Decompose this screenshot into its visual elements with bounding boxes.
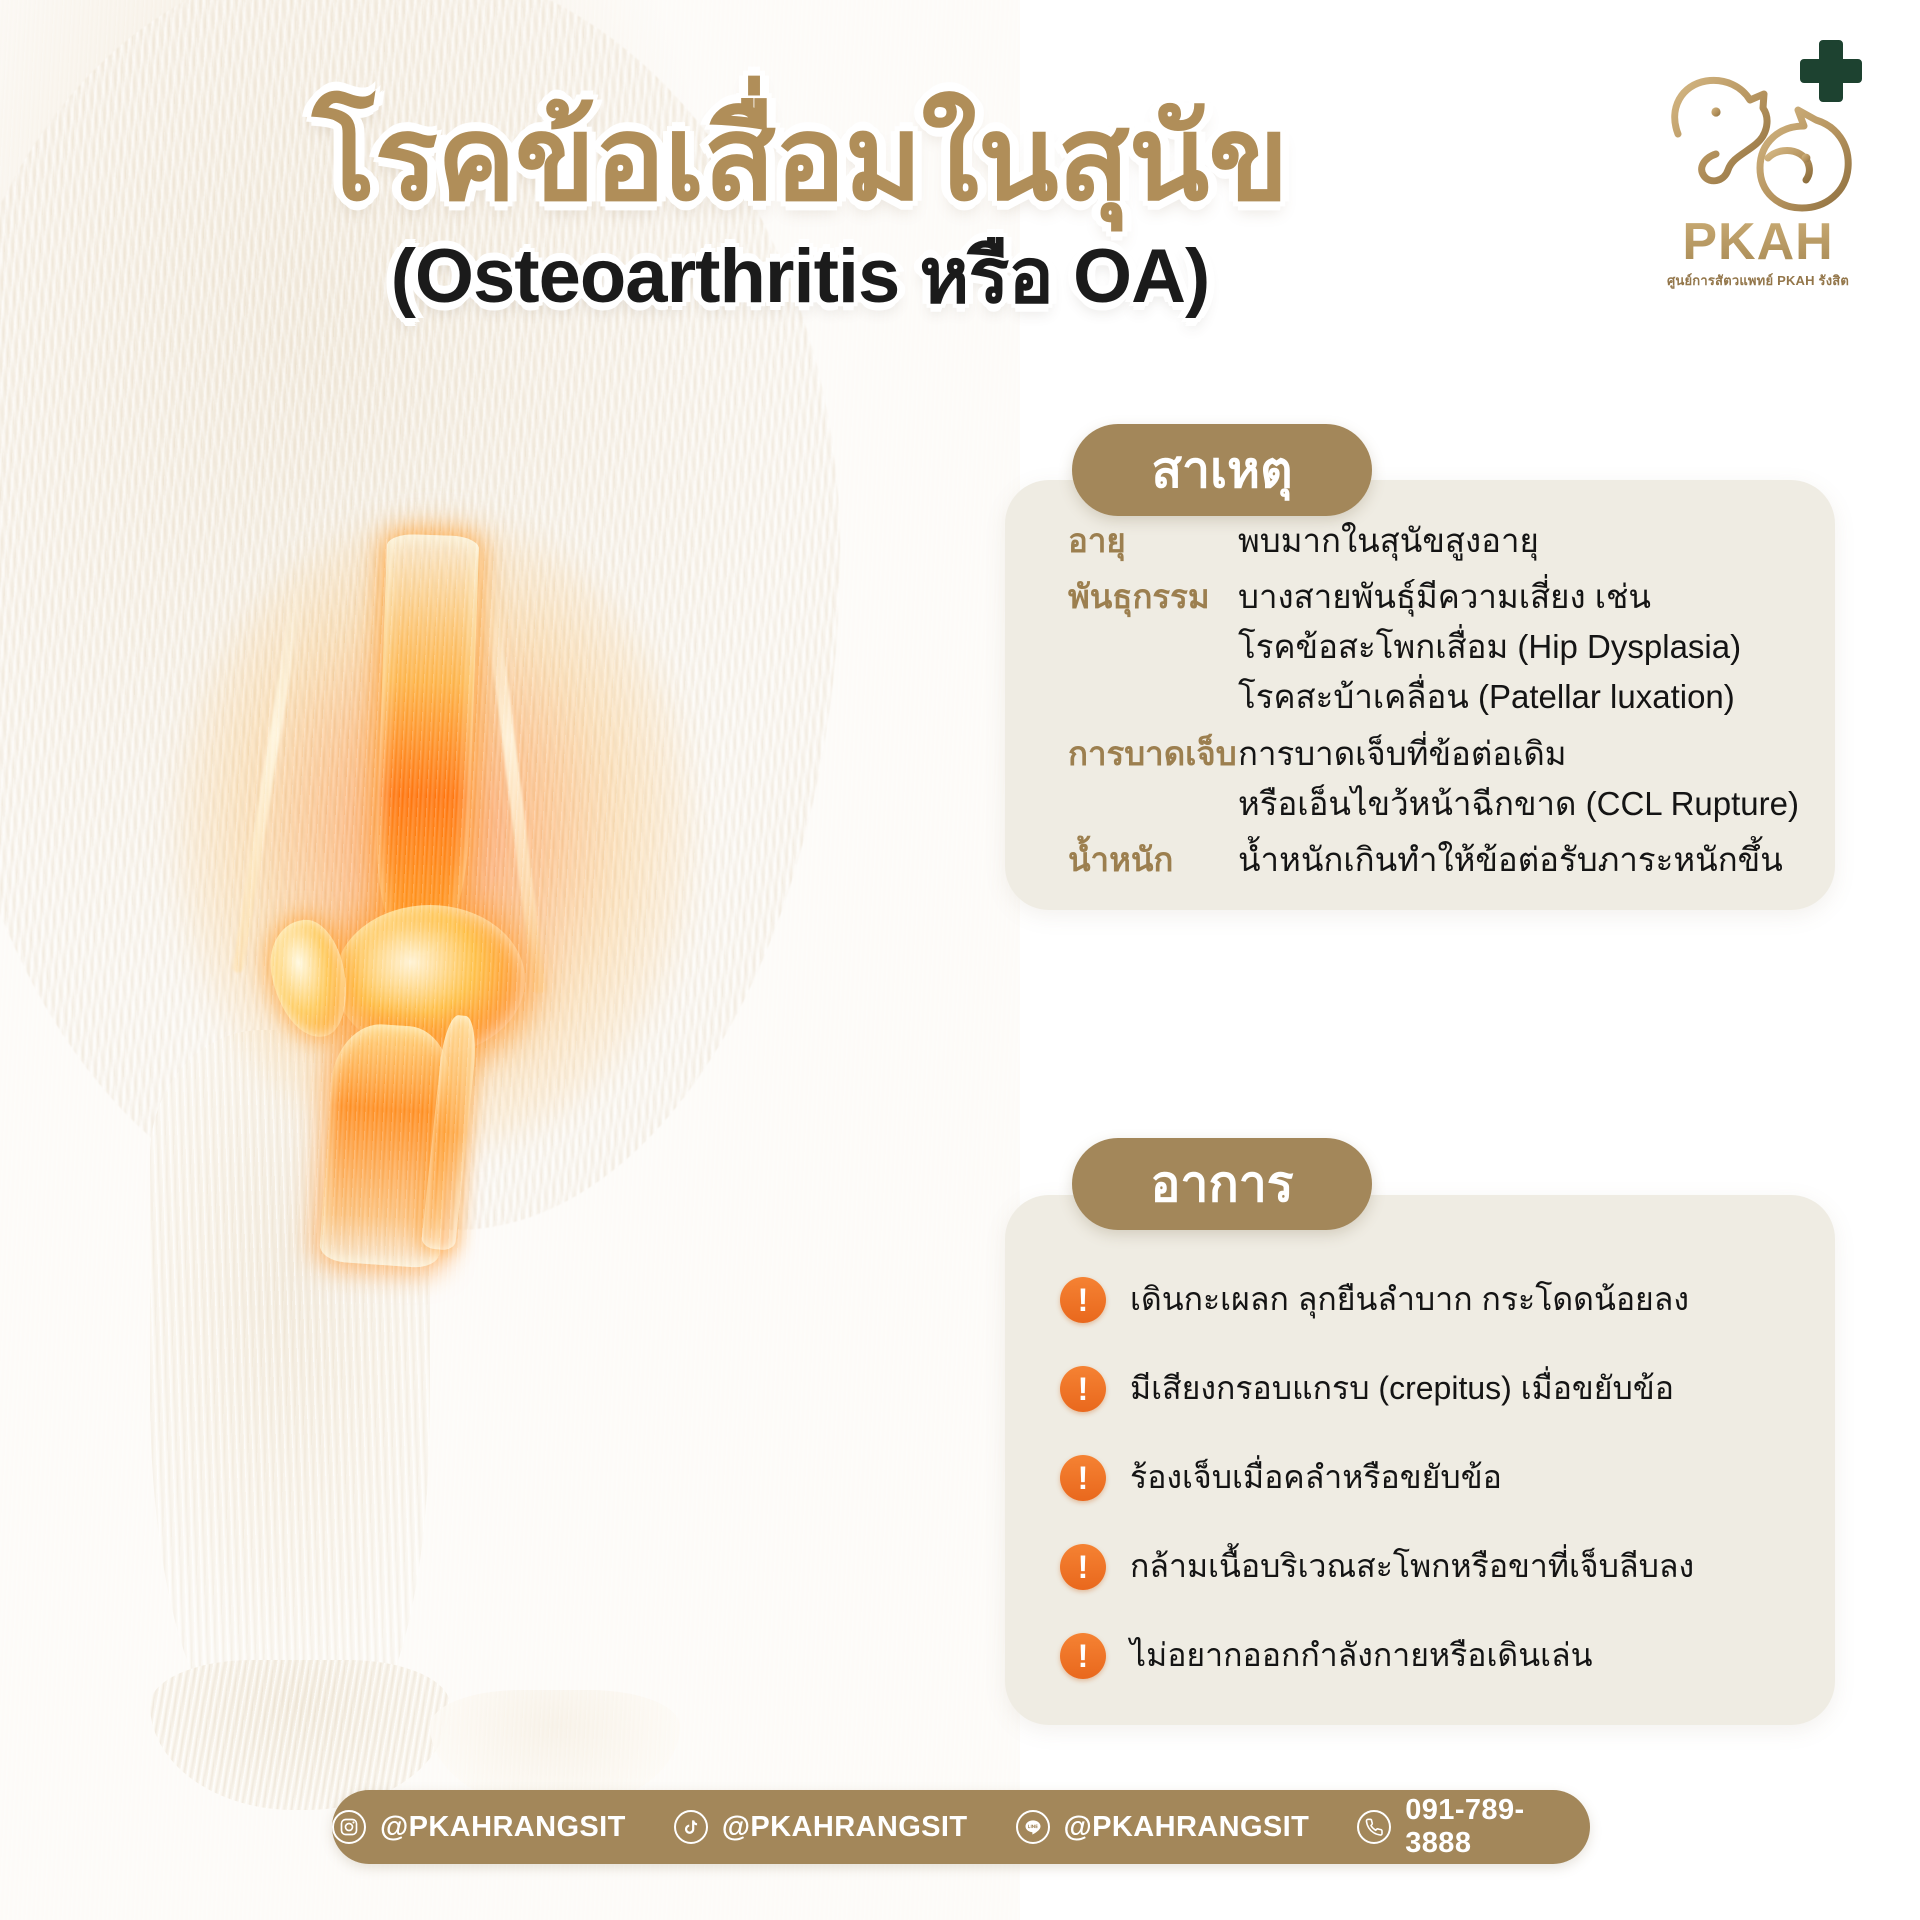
contact-handle: @PKAHRANGSIT (380, 1811, 626, 1844)
exclamation-circle-icon: ! (1060, 1455, 1106, 1501)
page-title-english: (Osteoarthritis หรือ OA) (300, 235, 1300, 319)
exclamation-circle-icon: ! (1060, 1366, 1106, 1412)
cause-value-line: โรคสะบ้าเคลื่อน (Patellar luxation) (1238, 672, 1828, 722)
cause-value-line: พบมากในสุนัขสูงอายุ (1238, 516, 1828, 566)
contact-handle: @PKAHRANGSIT (722, 1811, 968, 1844)
cause-value-line: การบาดเจ็บที่ข้อต่อเดิม (1238, 729, 1828, 779)
cause-value-line: โรคข้อสะโพกเสื่อม (Hip Dysplasia) (1238, 622, 1828, 672)
cause-row: น้ำหนักน้ำหนักเกินทำให้ข้อต่อรับภาระหนัก… (1068, 835, 1828, 885)
symptom-item: !ไม่อยากออกกำลังกายหรือเดินเล่น (1060, 1611, 1840, 1700)
symptom-text: เดินกะเผลก ลุกยืนลำบาก กระโดดน้อยลง (1130, 1279, 1689, 1321)
exclamation-circle-icon: ! (1060, 1633, 1106, 1679)
knee-xray-overlay (215, 545, 645, 1105)
dog-front-paw-shape (150, 1660, 450, 1810)
exclamation-circle-icon: ! (1060, 1544, 1106, 1590)
phone-icon[interactable] (1357, 1810, 1391, 1844)
symptom-text: ไม่อยากออกกำลังกายหรือเดินเล่น (1130, 1635, 1593, 1677)
contact-item[interactable]: 091-789-3888 (1357, 1794, 1590, 1860)
contact-item[interactable]: @PKAHRANGSIT (332, 1810, 626, 1844)
cause-row: อายุพบมากในสุนัขสูงอายุ (1068, 516, 1828, 566)
cause-label: พันธุกรรม (1068, 572, 1238, 722)
symptom-text: กล้ามเนื้อบริเวณสะโพกหรือขาที่เจ็บลีบลง (1130, 1546, 1694, 1588)
cause-label: การบาดเจ็บ (1068, 729, 1238, 829)
cause-label: น้ำหนัก (1068, 835, 1238, 885)
logo-subtitle: ศูนย์การสัตวแพทย์ PKAH รังสิต (1638, 270, 1878, 291)
symptom-item: !เดินกะเผลก ลุกยืนลำบาก กระโดดน้อยลง (1060, 1255, 1840, 1344)
cat-eye-icon (1802, 154, 1811, 163)
symptom-item: !มีเสียงกรอบแกรบ (crepitus) เมื่อขยับข้อ (1060, 1344, 1840, 1433)
causes-heading: สาเหตุ (1072, 424, 1372, 516)
dog-eye-icon (1711, 107, 1720, 116)
symptoms-heading: อาการ (1072, 1138, 1372, 1230)
contact-item[interactable]: @PKAHRANGSIT (674, 1810, 968, 1844)
symptom-text: มีเสียงกรอบแกรบ (crepitus) เมื่อขยับข้อ (1130, 1368, 1674, 1410)
instagram-icon[interactable] (332, 1810, 366, 1844)
infographic-poster: PKAH ศูนย์การสัตวแพทย์ PKAH รังสิต โรคข้… (0, 0, 1920, 1920)
cause-values: พบมากในสุนัขสูงอายุ (1238, 516, 1828, 566)
causes-table: อายุพบมากในสุนัขสูงอายุพันธุกรรมบางสายพั… (1068, 516, 1828, 891)
cause-row: การบาดเจ็บการบาดเจ็บที่ข้อต่อเดิมหรือเอ็… (1068, 729, 1828, 829)
dog-and-cat-icon (1660, 72, 1856, 214)
pkah-logo: PKAH ศูนย์การสัตวแพทย์ PKAH รังสิต (1638, 34, 1878, 274)
cause-value-line: หรือเอ็นไขว้หน้าฉีกขาด (CCL Rupture) (1238, 779, 1828, 829)
cause-values: บางสายพันธุ์มีความเสี่ยง เช่นโรคข้อสะโพก… (1238, 572, 1828, 722)
symptom-item: !ร้องเจ็บเมื่อคลำหรือขยับข้อ (1060, 1433, 1840, 1522)
page-title-block: โรคข้อเสื่อมในสุนัข (Osteoarthritis หรือ… (300, 96, 1300, 319)
tiktok-icon[interactable] (674, 1810, 708, 1844)
cause-label: อายุ (1068, 516, 1238, 566)
logo-wordmark: PKAH (1638, 216, 1878, 268)
cause-value-line: บางสายพันธุ์มีความเสี่ยง เช่น (1238, 572, 1828, 622)
contact-footer-bar: @PKAHRANGSIT@PKAHRANGSIT@PKAHRANGSIT091-… (332, 1790, 1590, 1864)
cause-values: น้ำหนักเกินทำให้ข้อต่อรับภาระหนักขึ้น (1238, 835, 1828, 885)
cause-row: พันธุกรรมบางสายพันธุ์มีความเสี่ยง เช่นโร… (1068, 572, 1828, 722)
contact-handle: @PKAHRANGSIT (1064, 1811, 1310, 1844)
cause-value-line: น้ำหนักเกินทำให้ข้อต่อรับภาระหนักขึ้น (1238, 835, 1828, 885)
symptoms-list: !เดินกะเผลก ลุกยืนลำบาก กระโดดน้อยลง!มีเ… (1060, 1255, 1840, 1700)
line-icon[interactable] (1016, 1810, 1050, 1844)
contact-item[interactable]: @PKAHRANGSIT (1016, 1810, 1310, 1844)
contact-handle: 091-789-3888 (1405, 1794, 1590, 1860)
symptom-item: !กล้ามเนื้อบริเวณสะโพกหรือขาที่เจ็บลีบลง (1060, 1522, 1840, 1611)
symptom-text: ร้องเจ็บเมื่อคลำหรือขยับข้อ (1130, 1457, 1502, 1499)
exclamation-circle-icon: ! (1060, 1277, 1106, 1323)
cause-values: การบาดเจ็บที่ข้อต่อเดิมหรือเอ็นไขว้หน้าฉ… (1238, 729, 1828, 829)
page-title-thai: โรคข้อเสื่อมในสุนัข (300, 96, 1300, 223)
